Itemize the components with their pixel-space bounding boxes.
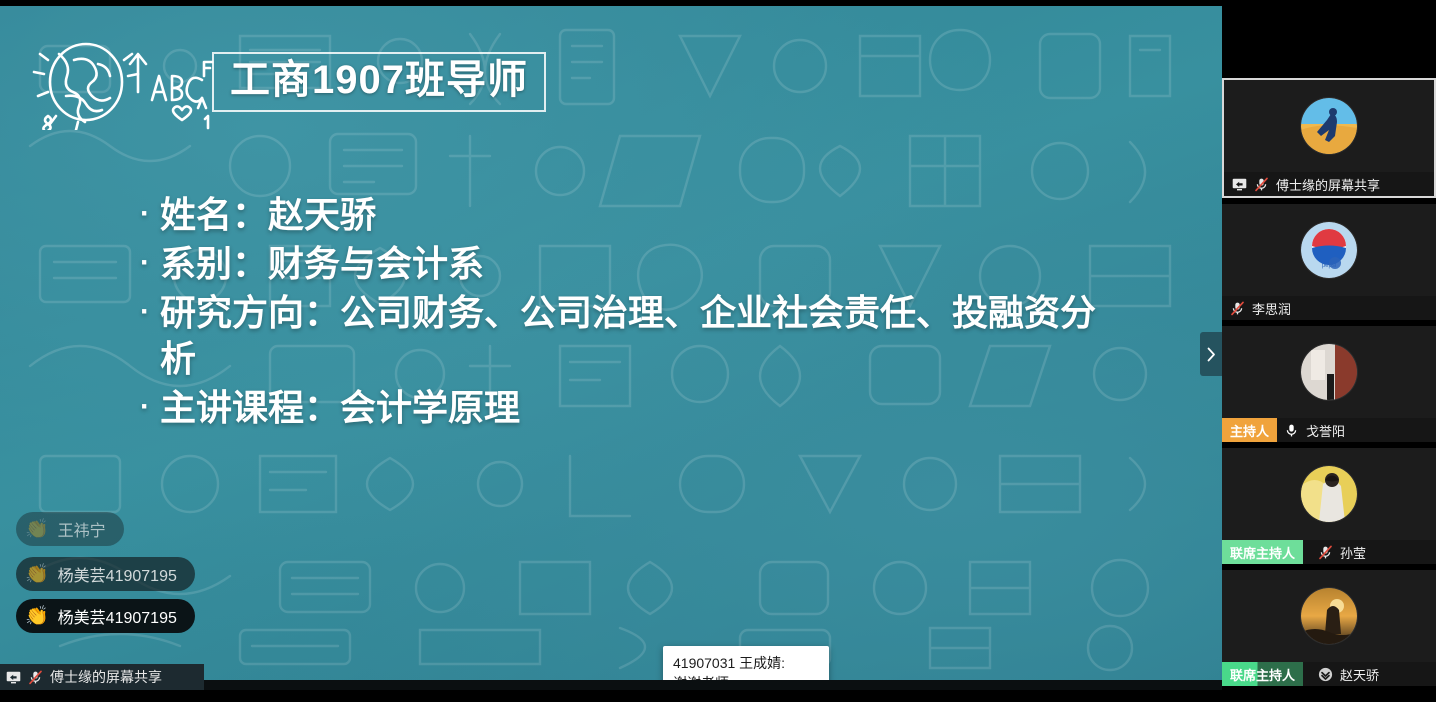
- shared-screen-slide[interactable]: 工商1907班导师 · 姓名：赵天骄 · 系别：财务与会计系 · 研究方向：公司…: [0, 6, 1222, 690]
- avatar: [1301, 466, 1357, 522]
- meeting-stage: 工商1907班导师 · 姓名：赵天骄 · 系别：财务与会计系 · 研究方向：公司…: [0, 0, 1436, 702]
- participant-name: 赵天骄: [1340, 665, 1379, 684]
- slide-bullet-list: · 姓名：赵天骄 · 系别：财务与会计系 · 研究方向：公司财务、公司治理、企业…: [140, 192, 1120, 434]
- participant-tile[interactable]: 联席主持人 孙莹: [1222, 448, 1436, 564]
- clapping-hands-icon: 👏: [25, 565, 49, 584]
- list-item: · 姓名：赵天骄: [140, 192, 1120, 239]
- bullet-marker: ·: [140, 192, 150, 236]
- avatar: pepsi: [1301, 222, 1357, 278]
- bullet-marker: ·: [140, 385, 150, 429]
- participant-name: 戈誉阳: [1306, 421, 1345, 440]
- participant-tile[interactable]: 主持人 戈誉阳: [1222, 326, 1436, 442]
- reaction-toast: 👏 杨美芸41907195: [16, 599, 195, 633]
- mic-muted-icon: [1254, 177, 1269, 192]
- globe-abc-doodle-icon: [26, 30, 216, 130]
- participant-tile[interactable]: 联席主持人 赵天骄: [1222, 570, 1436, 686]
- participant-tile[interactable]: pepsi 李思润: [1222, 204, 1436, 320]
- participant-video[interactable]: [1224, 80, 1434, 172]
- participant-video[interactable]: [1222, 326, 1436, 418]
- bullet-text: 系别：财务与会计系: [160, 241, 1120, 288]
- participant-video[interactable]: [1222, 570, 1436, 662]
- mic-muted-icon: [1318, 545, 1333, 560]
- participant-video[interactable]: pepsi: [1222, 204, 1436, 296]
- chevron-right-icon: [1207, 347, 1216, 362]
- bullet-text: 研究方向：公司财务、公司治理、企业社会责任、投融资分析: [160, 290, 1120, 384]
- bullet-text: 主讲课程：会计学原理: [160, 385, 1120, 432]
- panel-top-spacer: [1222, 6, 1436, 78]
- participant-name: 傅士缘的屏幕共享: [1276, 175, 1380, 194]
- status-badge: 联席主持人: [1222, 662, 1303, 686]
- bullet-marker: ·: [140, 241, 150, 285]
- list-item: · 研究方向：公司财务、公司治理、企业社会责任、投融资分析: [140, 290, 1120, 384]
- page-title: 工商1907班导师: [212, 52, 546, 112]
- participant-namebar: 李思润: [1222, 296, 1436, 320]
- mic-on-icon: [1284, 423, 1299, 438]
- clapping-hands-icon: 👏: [25, 607, 49, 626]
- reaction-name: 杨美芸41907195: [58, 604, 177, 628]
- participant-name: 孙莹: [1340, 543, 1366, 562]
- panel-collapse-toggle[interactable]: [1200, 332, 1222, 376]
- avatar: [1301, 344, 1357, 400]
- list-item: · 主讲课程：会计学原理: [140, 385, 1120, 432]
- avatar: [1301, 98, 1357, 154]
- status-badge: 联席主持人: [1222, 540, 1303, 564]
- status-badge: 主持人: [1222, 418, 1277, 442]
- reaction-toast: 👏 杨美芸41907195: [16, 557, 195, 591]
- chevron-double-down-icon: [1318, 667, 1333, 682]
- screen-share-icon: [1232, 178, 1247, 191]
- participant-namebar: 主持人 戈誉阳: [1222, 418, 1436, 442]
- participant-tile[interactable]: 傅士缘的屏幕共享: [1222, 78, 1436, 198]
- participant-video[interactable]: [1222, 448, 1436, 540]
- mic-muted-icon: [1230, 301, 1245, 316]
- mic-muted-icon: [28, 670, 43, 685]
- bullet-marker: ·: [140, 290, 150, 334]
- clapping-hands-icon: 👏: [25, 520, 49, 539]
- reaction-name: 杨美芸41907195: [58, 562, 177, 586]
- reaction-toast: 👏 王祎宁: [16, 512, 124, 546]
- screen-share-icon: [6, 671, 21, 684]
- participants-panel[interactable]: 傅士缘的屏幕共享 pepsi: [1222, 6, 1436, 696]
- screen-share-indicator: 傅士缘的屏幕共享: [0, 664, 204, 690]
- chat-sender: 41907031 王成婧:: [673, 653, 819, 673]
- avatar: [1301, 588, 1357, 644]
- participant-namebar: 傅士缘的屏幕共享: [1224, 172, 1434, 196]
- reaction-name: 王祎宁: [58, 517, 106, 541]
- participant-namebar: 联席主持人 孙莹: [1222, 540, 1436, 564]
- svg-text:pepsi: pepsi: [1322, 263, 1336, 269]
- list-item: · 系别：财务与会计系: [140, 241, 1120, 288]
- participant-name: 李思润: [1252, 299, 1291, 318]
- bullet-text: 姓名：赵天骄: [160, 192, 1120, 239]
- screen-share-label: 傅士缘的屏幕共享: [50, 667, 162, 687]
- participant-namebar: 联席主持人 赵天骄: [1222, 662, 1436, 686]
